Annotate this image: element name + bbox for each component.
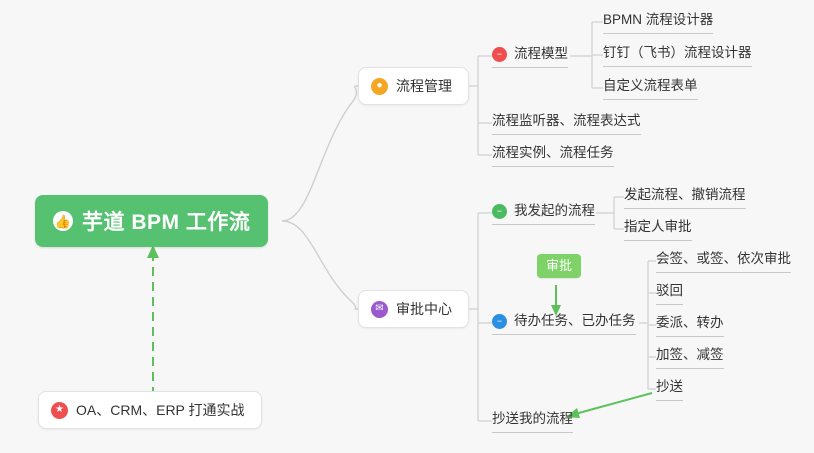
mail-icon: ✉ <box>371 301 388 318</box>
minus-circle-icon: − <box>492 204 507 219</box>
branch-approval-center-label: 审批中心 <box>396 299 452 319</box>
root-node[interactable]: 👍 芋道 BPM 工作流 <box>35 195 268 247</box>
node-todo-done-tasks[interactable]: − 待办任务、已办任务 <box>492 312 636 335</box>
node-instance-task[interactable]: 流程实例、流程任务 <box>492 144 614 167</box>
cc-to-cc-flow-arrow <box>566 393 652 418</box>
node-custom-process-form[interactable]: 自定义流程表单 <box>603 77 698 100</box>
node-delegate-transfer[interactable]: 委派、转办 <box>656 314 724 337</box>
branch-process-management-label: 流程管理 <box>396 76 452 96</box>
node-my-initiated-process-label: 我发起的流程 <box>514 202 595 220</box>
footer-note-label: OA、CRM、ERP 打通实战 <box>76 400 245 420</box>
node-add-remove-sign[interactable]: 加签、减签 <box>656 346 724 369</box>
node-cc[interactable]: 抄送 <box>656 378 683 401</box>
footer-to-root-dashed-arrow <box>147 245 159 396</box>
node-process-model-label: 流程模型 <box>514 45 568 63</box>
node-todo-done-tasks-label: 待办任务、已办任务 <box>514 312 636 330</box>
node-countersign[interactable]: 会签、或签、依次审批 <box>656 250 791 273</box>
star-icon: ★ <box>51 402 68 419</box>
branch-process-management[interactable]: ● 流程管理 <box>358 67 469 105</box>
node-start-cancel-process[interactable]: 发起流程、撤销流程 <box>624 186 746 209</box>
branch-approval-center[interactable]: ✉ 审批中心 <box>358 290 469 328</box>
footer-note[interactable]: ★ OA、CRM、ERP 打通实战 <box>38 391 262 429</box>
node-process-model[interactable]: − 流程模型 <box>492 45 568 68</box>
node-reject[interactable]: 驳回 <box>656 282 683 305</box>
minus-circle-icon: − <box>492 47 507 62</box>
node-my-initiated-process[interactable]: − 我发起的流程 <box>492 202 595 225</box>
tag-approval[interactable]: 审批 <box>537 254 581 278</box>
mindmap-canvas: 👍 芋道 BPM 工作流 ● 流程管理 − 流程模型 BPMN 流程设计器 钉钉… <box>0 0 814 453</box>
minus-circle-icon: − <box>492 314 507 329</box>
root-node-label: 芋道 BPM 工作流 <box>82 206 250 236</box>
node-dingtalk-feishu-designer[interactable]: 钉钉（飞书）流程设计器 <box>603 44 752 67</box>
location-pin-icon: ● <box>371 78 388 95</box>
node-cc-my-process[interactable]: 抄送我的流程 <box>492 410 573 433</box>
node-bpmn-designer[interactable]: BPMN 流程设计器 <box>603 11 713 34</box>
node-listener-expression[interactable]: 流程监听器、流程表达式 <box>492 112 641 135</box>
node-assignee-approval[interactable]: 指定人审批 <box>624 218 692 241</box>
thumbs-up-icon: 👍 <box>53 211 73 231</box>
